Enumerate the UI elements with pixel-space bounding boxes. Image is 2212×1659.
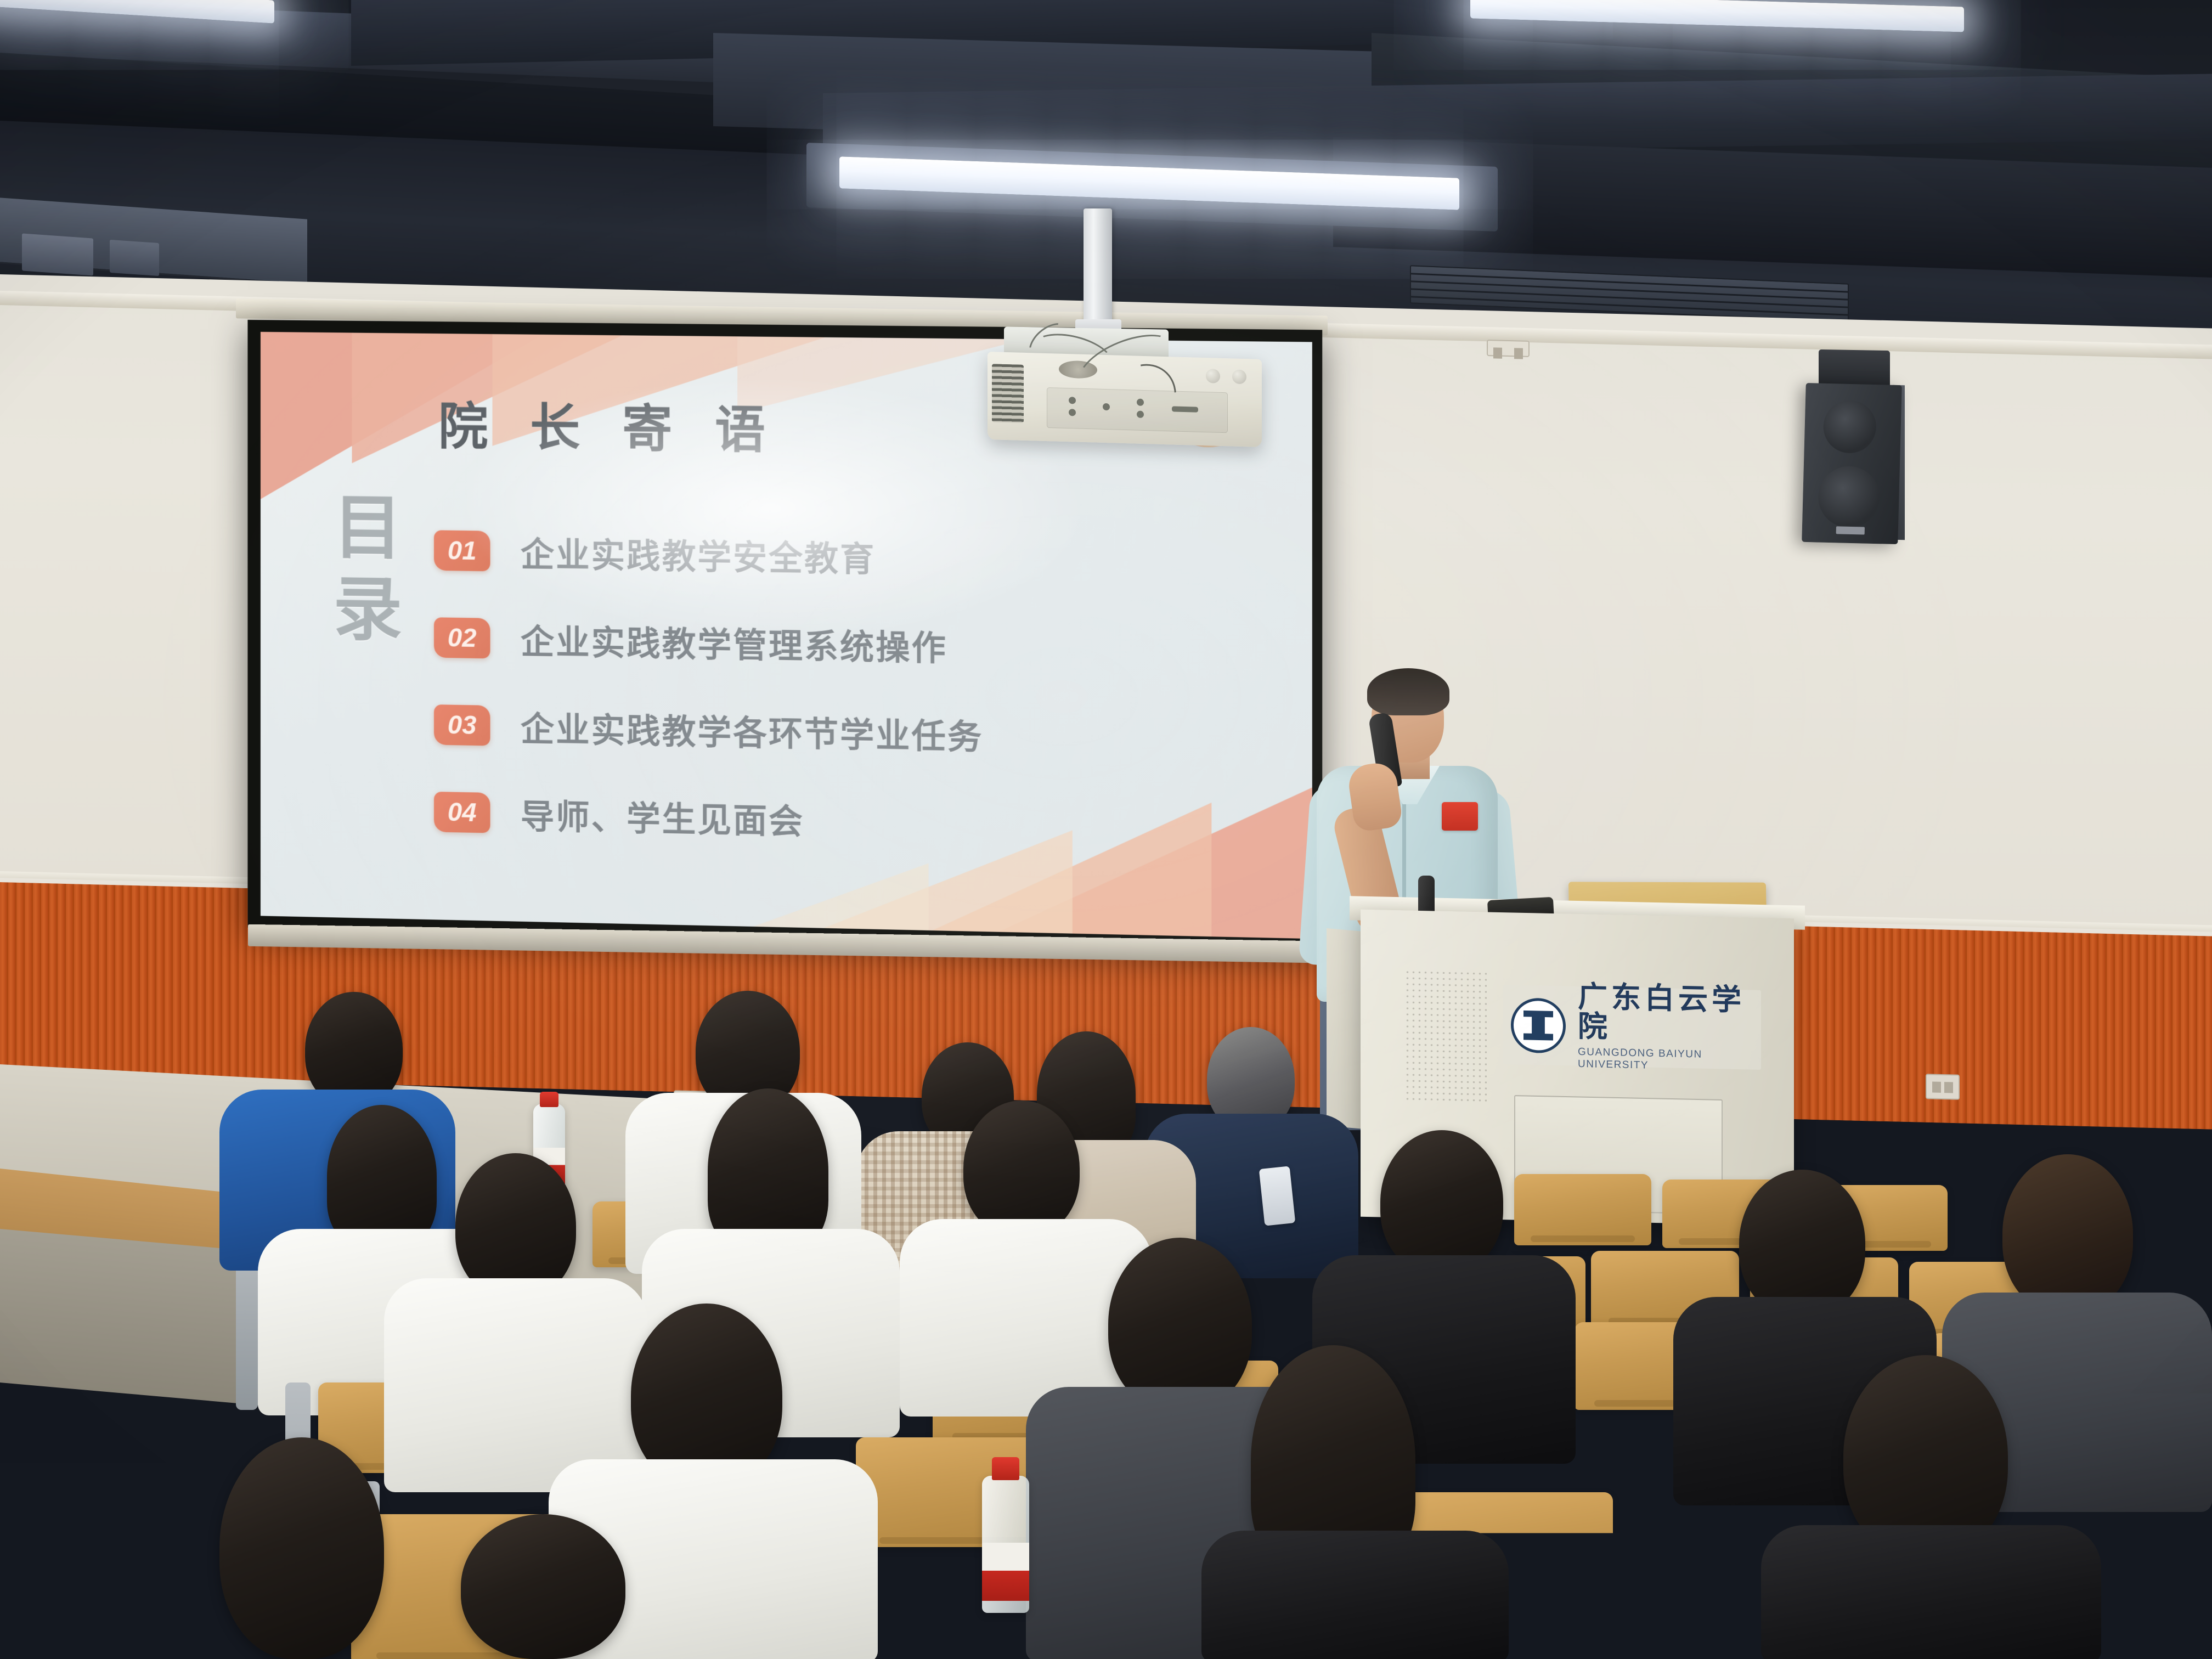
audience-head xyxy=(963,1101,1080,1237)
podium-name-cn: 广东白云学院 xyxy=(1578,982,1761,1045)
bottle-cap xyxy=(992,1457,1019,1480)
podium-name-en: GUANGDONG BAIYUN UNIVERSITY xyxy=(1578,1046,1761,1074)
toc-item-number: 02 xyxy=(434,617,490,658)
audience-head xyxy=(1380,1130,1503,1274)
speaker-woofer xyxy=(1818,466,1881,529)
watermark-outlet: 新闻网 xyxy=(2089,1594,2189,1640)
water-bottle xyxy=(982,1476,1029,1613)
audience-head xyxy=(219,1437,384,1659)
toc-item: 02 企业实践教学管理系统操作 xyxy=(434,594,1080,692)
audience-head xyxy=(708,1088,828,1253)
toc-item-number: 04 xyxy=(434,792,490,833)
toc-item-label: 导师、学生见面会 xyxy=(521,789,804,844)
presenter-shirt-placket xyxy=(1402,795,1406,900)
toc-item-number: 01 xyxy=(434,530,490,571)
toc-item: 04 导师、学生见面会 xyxy=(434,768,1080,868)
bottle-label xyxy=(982,1543,1029,1601)
toc-item-label: 企业实践教学各环节学业任务 xyxy=(521,702,983,759)
university-seal-icon xyxy=(1511,997,1566,1053)
audience-head xyxy=(2002,1154,2133,1313)
toc-item: 01 企业实践教学安全教育 xyxy=(434,507,1080,604)
watermark: 广东白云学院 新闻网 xyxy=(1913,1594,2189,1640)
projector-knob[interactable] xyxy=(1206,369,1220,383)
wall-speaker xyxy=(1802,383,1902,544)
presenter-badge xyxy=(1442,802,1478,831)
audience-head xyxy=(455,1153,576,1299)
presenter-hair xyxy=(1367,668,1449,715)
podium-name-plate: 广东白云学院 GUANGDONG BAIYUN UNIVERSITY xyxy=(1503,985,1761,1070)
projector-vent xyxy=(992,364,1024,423)
toc-item: 03 企业实践教学各环节学业任务 xyxy=(434,681,1080,780)
audience-head xyxy=(1569,1426,1739,1659)
audience-head xyxy=(327,1105,437,1248)
smartphone[interactable] xyxy=(1259,1166,1296,1226)
power-outlet[interactable] xyxy=(1487,340,1530,357)
audience-head xyxy=(1739,1170,1865,1317)
audience-body xyxy=(1201,1531,1509,1659)
slide-decor-shape xyxy=(742,860,929,935)
audience-head xyxy=(1108,1238,1252,1411)
ceiling-duct-box xyxy=(110,240,159,276)
power-outlet[interactable] xyxy=(1926,1074,1960,1100)
seal-glyph xyxy=(1523,1010,1553,1040)
slide-toc-list: 01 企业实践教学安全教育 02 企业实践教学管理系统操作 03 企业实践教学各… xyxy=(434,507,1080,869)
speaker-tweeter xyxy=(1822,400,1877,454)
bottle-cap xyxy=(540,1092,558,1107)
watermark-organization: 广东白云学院 xyxy=(1913,1603,2074,1638)
speaker-badge xyxy=(1836,526,1865,534)
lecture-hall-photo: 🌿 院 长 寄 语 目录 01 企业实践教学安全教育 02 企业实践教学管理系统… xyxy=(0,0,2212,1659)
ceiling-duct-box xyxy=(22,233,93,275)
slide-title: 院 长 寄 语 xyxy=(438,386,780,462)
toc-item-label: 企业实践教学安全教育 xyxy=(521,527,876,582)
toc-item-number: 03 xyxy=(434,704,490,746)
podium-speaker-grill xyxy=(1404,969,1487,1102)
projector-knob[interactable] xyxy=(1232,369,1246,384)
auditorium-seat xyxy=(1514,1174,1651,1245)
audience-head xyxy=(461,1514,625,1659)
slide-contents-label: 目录 xyxy=(312,490,410,654)
toc-item-label: 企业实践教学管理系统操作 xyxy=(521,614,947,670)
